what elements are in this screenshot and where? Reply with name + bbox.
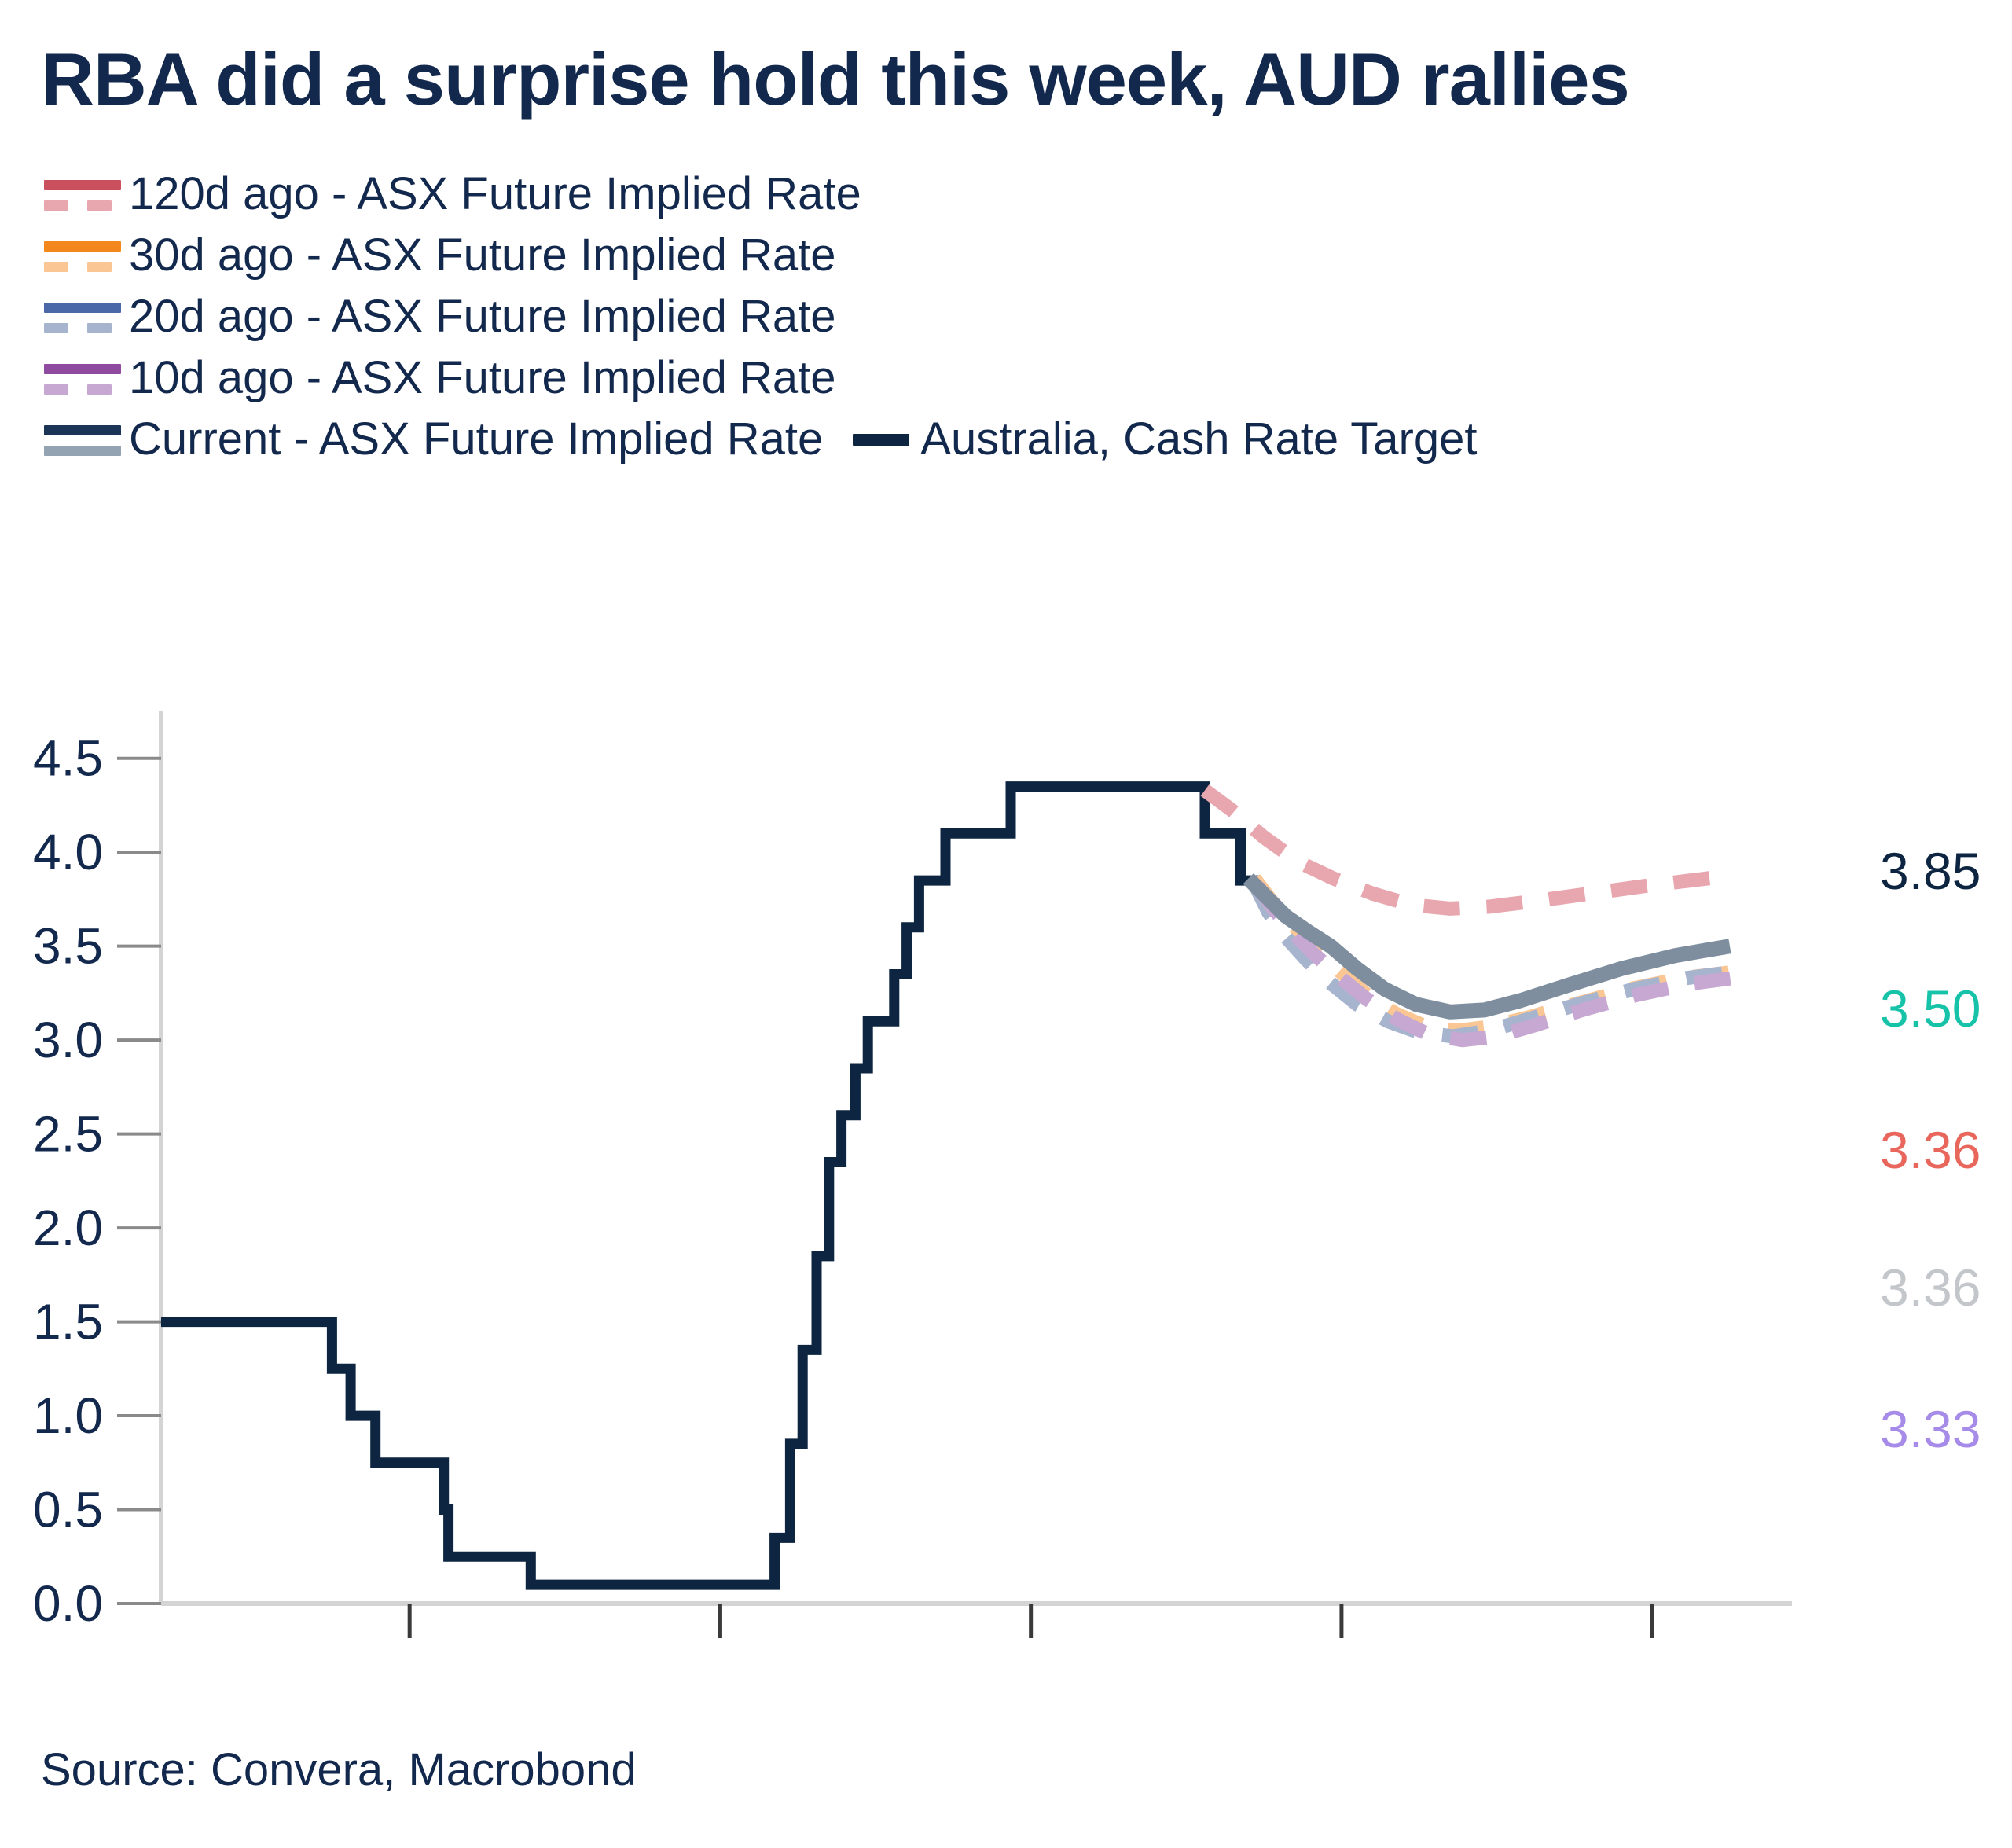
legend-row: 30d ago - ASX Future Implied Rate <box>36 225 1970 286</box>
y-axis-tick-label: 2.0 <box>33 1200 103 1256</box>
legend-20d[interactable]: 20d ago - ASX Future Implied Rate <box>36 294 836 340</box>
series-end-labels: 3.873.853.503.363.363.33 <box>1831 676 2012 1651</box>
chart-svg: 4.54.03.53.02.52.01.51.00.50.02020202220… <box>0 676 2012 1651</box>
chart-legend: 120d ago - ASX Future Implied Rate30d ag… <box>36 163 1970 470</box>
end-label-cash-rate: 3.85 <box>1880 845 1981 897</box>
end-label-20d: 3.36 <box>1880 1262 1981 1313</box>
chart-plot-area: 4.54.03.53.02.52.01.51.00.50.02020202220… <box>0 676 2012 1651</box>
y-axis-tick-label: 1.0 <box>33 1387 103 1444</box>
legend-row: Current - ASX Future Implied RateAustral… <box>36 409 1970 470</box>
y-axis-tick-label: 4.5 <box>33 730 103 787</box>
end-label-30d: 3.36 <box>1880 1124 1981 1176</box>
legend-item-label: 30d ago - ASX Future Implied Rate <box>129 233 836 278</box>
legend-swatch-icon <box>36 419 121 460</box>
legend-swatch-icon <box>36 174 121 215</box>
source-note: Source: Convera, Macrobond <box>41 1743 637 1796</box>
end-label-current: 3.50 <box>1880 983 1981 1034</box>
legend-swatch-icon <box>36 235 121 276</box>
end-label-10d: 3.33 <box>1880 1403 1981 1455</box>
legend-cash-rate-target[interactable]: Australia, Cash Rate Target <box>845 417 1477 462</box>
legend-120d[interactable]: 120d ago - ASX Future Implied Rate <box>36 171 861 217</box>
legend-current[interactable]: Current - ASX Future Implied Rate <box>36 417 823 462</box>
y-axis-tick-label: 4.0 <box>33 824 103 880</box>
y-axis-tick-label: 3.5 <box>33 918 103 975</box>
y-axis-tick-label: 3.0 <box>33 1012 103 1068</box>
legend-30d[interactable]: 30d ago - ASX Future Implied Rate <box>36 233 836 278</box>
page-title: RBA did a surprise hold this week, AUD r… <box>41 41 1629 119</box>
y-axis-tick-label: 0.0 <box>33 1575 103 1632</box>
legend-item-label: Current - ASX Future Implied Rate <box>129 417 823 462</box>
y-axis-tick-label: 1.5 <box>33 1294 103 1350</box>
legend-item-label: Australia, Cash Rate Target <box>920 417 1477 462</box>
legend-swatch-icon <box>36 358 121 399</box>
y-axis-tick-label: 2.5 <box>33 1106 103 1163</box>
legend-row: 120d ago - ASX Future Implied Rate <box>36 163 1970 225</box>
legend-item-label: 120d ago - ASX Future Implied Rate <box>129 171 861 217</box>
legend-item-label: 20d ago - ASX Future Implied Rate <box>129 294 836 340</box>
legend-row: 10d ago - ASX Future Implied Rate <box>36 347 1970 409</box>
series-line <box>161 787 1261 1585</box>
legend-10d[interactable]: 10d ago - ASX Future Implied Rate <box>36 355 836 401</box>
legend-row: 20d ago - ASX Future Implied Rate <box>36 286 1970 347</box>
legend-item-label: 10d ago - ASX Future Implied Rate <box>129 355 836 401</box>
legend-swatch-icon <box>845 419 912 460</box>
series-line <box>1205 790 1722 909</box>
legend-swatch-icon <box>36 296 121 337</box>
y-axis-tick-label: 0.5 <box>33 1482 103 1538</box>
